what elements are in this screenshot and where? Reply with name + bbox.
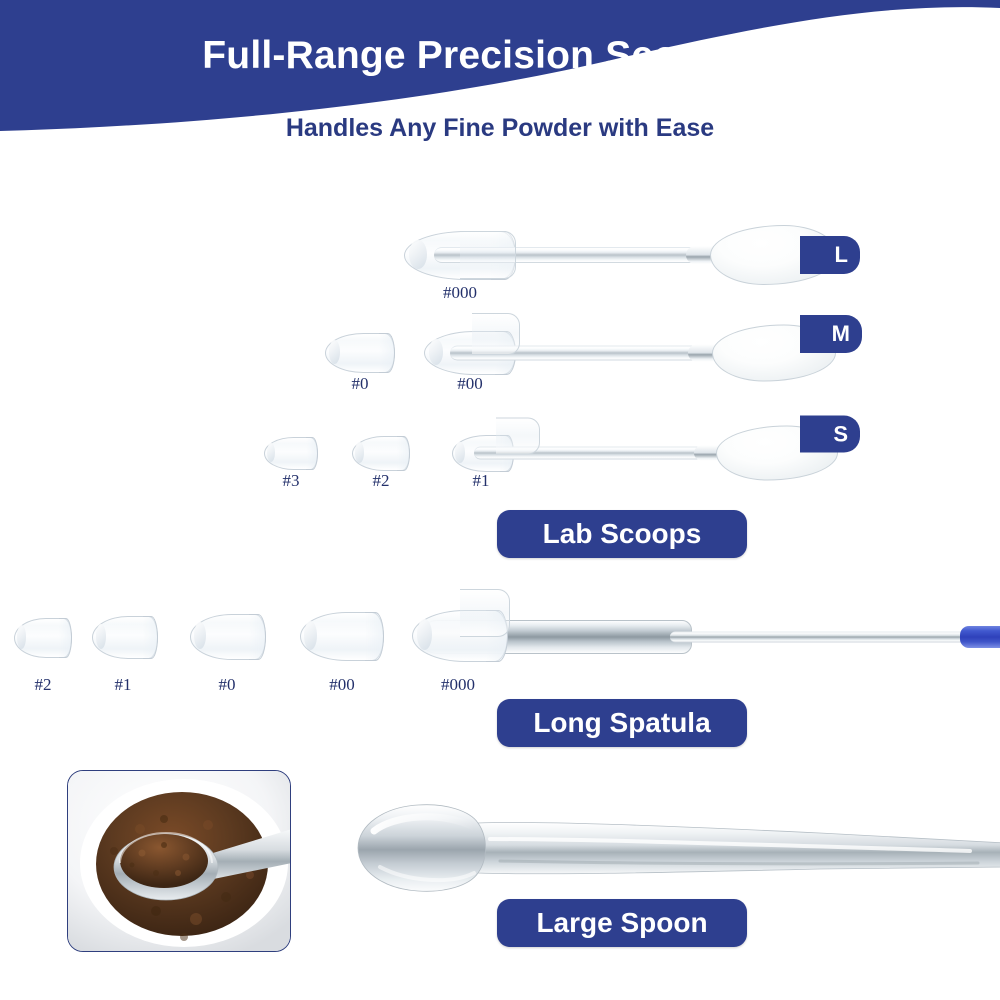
spatula-cap-label-00: #00 — [300, 675, 384, 695]
spatula-grip — [960, 626, 1000, 648]
cap-0-medium — [325, 333, 395, 373]
spatula-rod — [670, 632, 990, 643]
scoop-clear-sleeve-large — [460, 231, 516, 279]
spatula-cap-label-1: #1 — [90, 675, 156, 695]
spatula-clear-sleeve — [460, 589, 510, 637]
cap-3-small — [264, 437, 318, 470]
large-spoon-illustration — [350, 795, 1000, 900]
cap-label-000-large: #000 — [410, 283, 510, 303]
spatula-cap-0 — [190, 614, 266, 660]
spatula-cap-00 — [300, 612, 384, 661]
page-subtitle: Handles Any Fine Powder with Ease — [0, 114, 1000, 143]
scoop-clear-sleeve-medium — [472, 313, 520, 355]
size-badge-l: L — [800, 236, 860, 274]
cap-2-small — [352, 436, 410, 471]
spatula-cap-label-000: #000 — [410, 675, 506, 695]
large-spoon-graphic — [350, 795, 1000, 900]
cap-label-0-medium: #0 — [325, 374, 395, 394]
spatula-cap-label-2: #2 — [10, 675, 76, 695]
cap-label-3-small: #3 — [258, 471, 324, 491]
product-infographic: Full-Range Precision Scoop Set Handles A… — [0, 0, 1000, 1000]
coffee-powder-photo — [67, 770, 291, 952]
spatula-cap-2 — [14, 618, 72, 658]
page-title: Full-Range Precision Scoop Set — [0, 34, 1000, 78]
scoop-clear-sleeve-small — [496, 418, 540, 455]
spatula-cap-1 — [92, 616, 158, 659]
coffee-photo-graphic — [68, 771, 291, 952]
size-badge-s: S — [800, 416, 860, 453]
header-banner: Full-Range Precision Scoop Set Handles A… — [0, 0, 1000, 160]
size-badge-m: M — [800, 315, 862, 353]
cap-label-2-small: #2 — [348, 471, 414, 491]
section-badge-large-spoon: Large Spoon — [497, 899, 747, 947]
spatula-cap-label-0: #0 — [192, 675, 262, 695]
cap-label-00-medium: #00 — [430, 374, 510, 394]
section-badge-lab-scoops: Lab Scoops — [497, 510, 747, 558]
cap-label-1-small: #1 — [448, 471, 514, 491]
section-badge-long-spatula: Long Spatula — [497, 699, 747, 747]
